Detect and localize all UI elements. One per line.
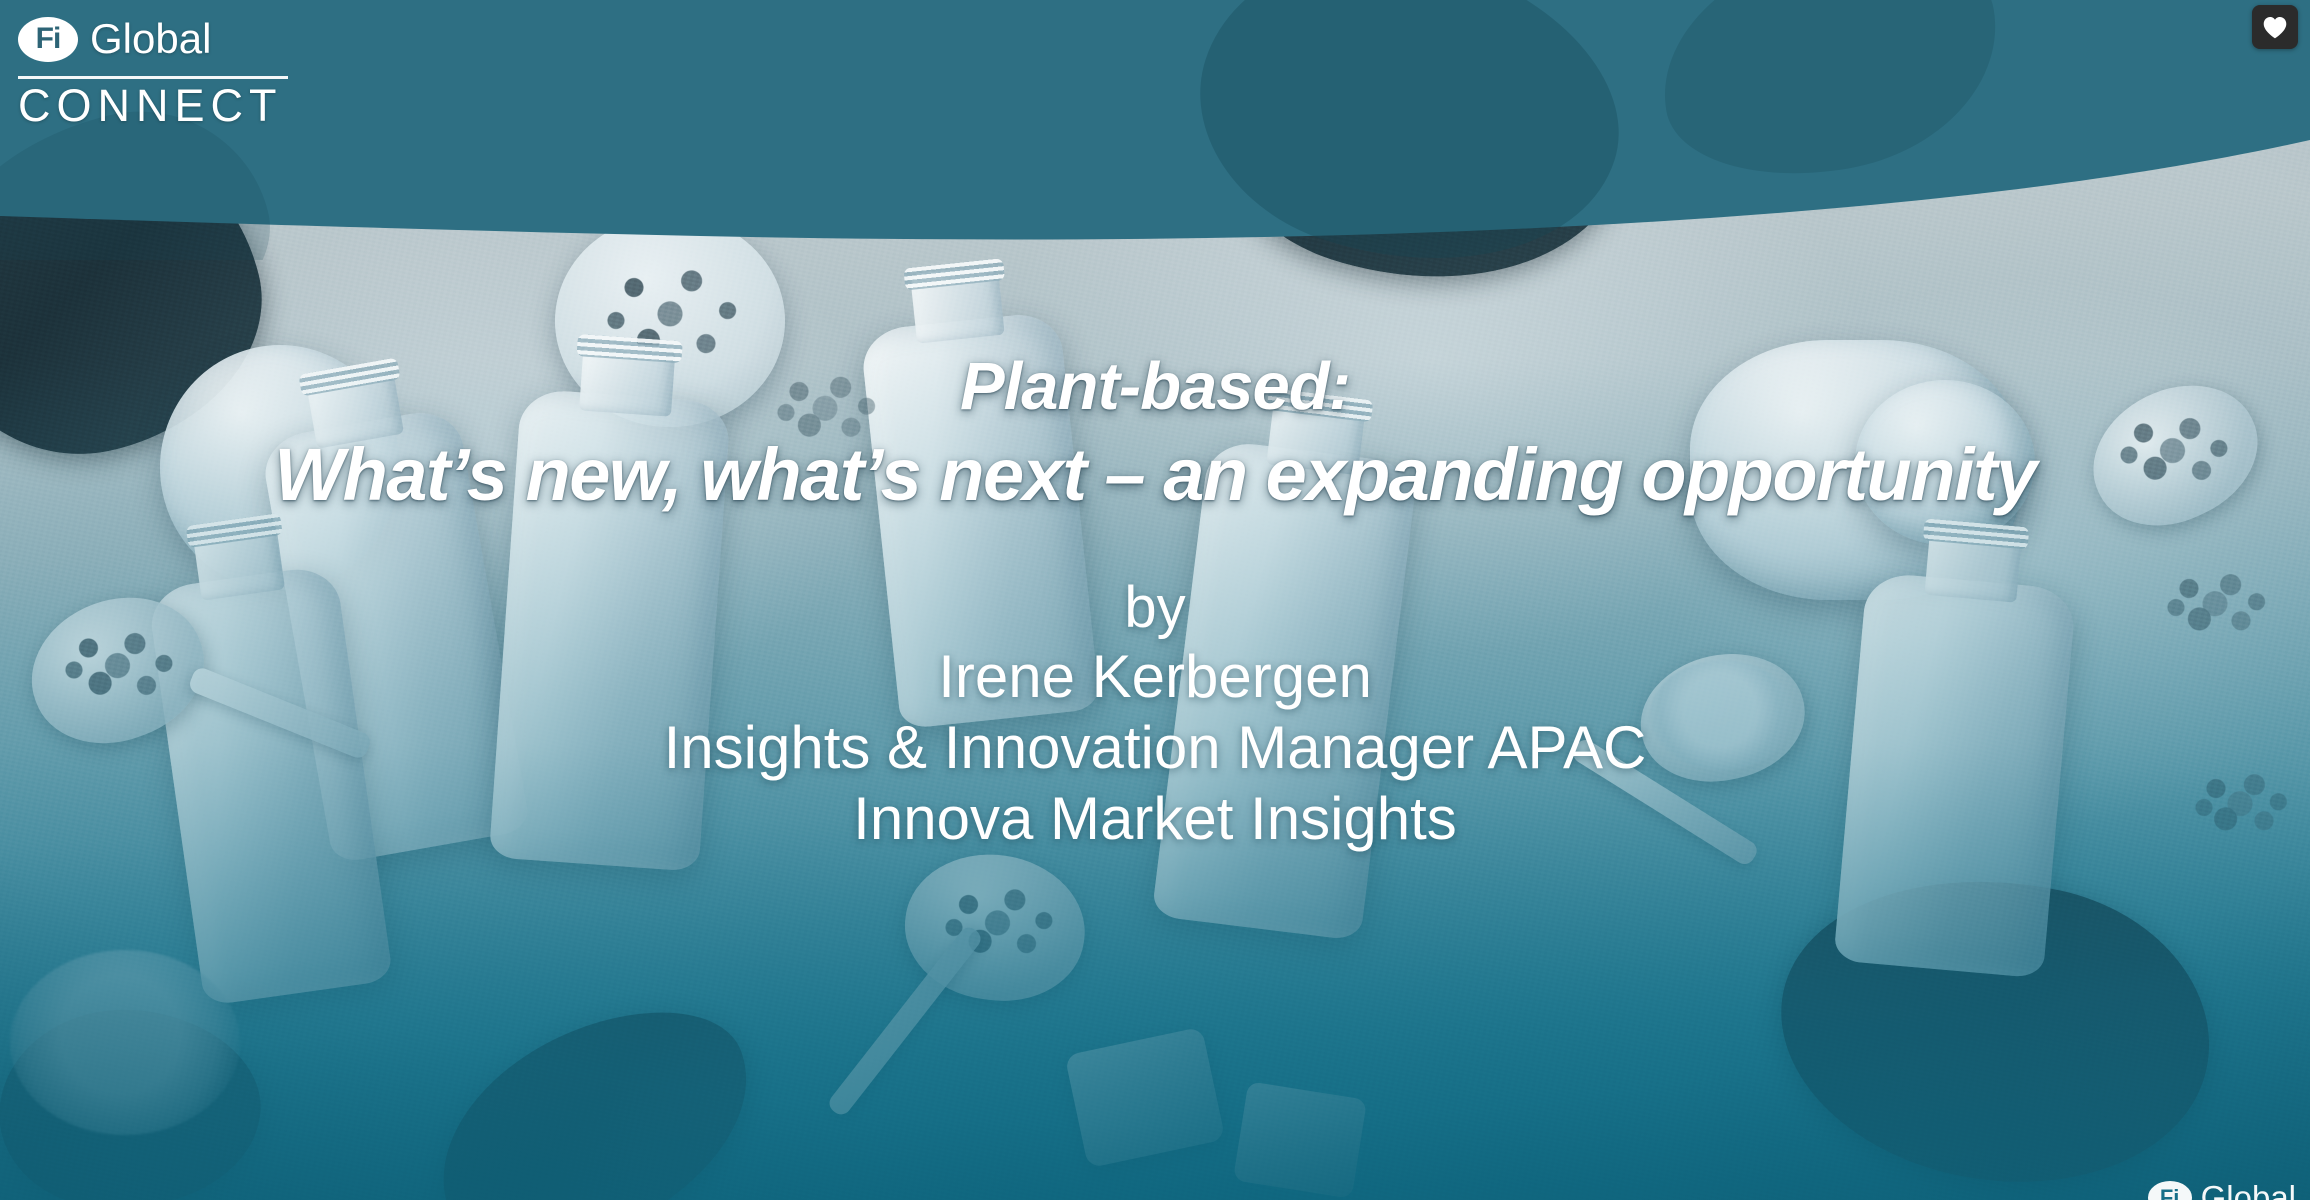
- logo-top-row: Fi Global: [18, 8, 308, 70]
- header-band: [0, 0, 2310, 260]
- byline-speaker: Irene Kerbergen: [0, 642, 2310, 713]
- byline-by: by: [0, 574, 2310, 642]
- logo-connect-text: CONNECT: [18, 83, 308, 128]
- byline-role: Insights & Innovation Manager APAC: [0, 713, 2310, 784]
- logo-divider: [18, 76, 288, 79]
- slide-title-line-1: Plant-based:: [0, 352, 2310, 422]
- logo-global-text: Global: [90, 18, 211, 60]
- favorite-button[interactable]: [2252, 5, 2298, 49]
- fi-global-connect-logo: Fi Global CONNECT: [18, 8, 308, 128]
- slide-byline: by Irene Kerbergen Insights & Innovation…: [0, 574, 2310, 855]
- footer-watermark: Fi Global: [2148, 1181, 2296, 1200]
- fi-logo-icon: Fi: [18, 17, 78, 62]
- watermark-global-text: Global: [2201, 1181, 2296, 1200]
- slide-content: Plant-based: What’s new, what’s next – a…: [0, 352, 2310, 855]
- heart-icon: [2262, 16, 2288, 39]
- presentation-slide: Fi Global CONNECT Plant-based: What’s ne…: [0, 0, 2310, 1200]
- fi-watermark-icon: Fi: [2148, 1181, 2192, 1200]
- slide-title-line-2: What’s new, what’s next – an expanding o…: [0, 436, 2310, 514]
- byline-company: Innova Market Insights: [0, 784, 2310, 855]
